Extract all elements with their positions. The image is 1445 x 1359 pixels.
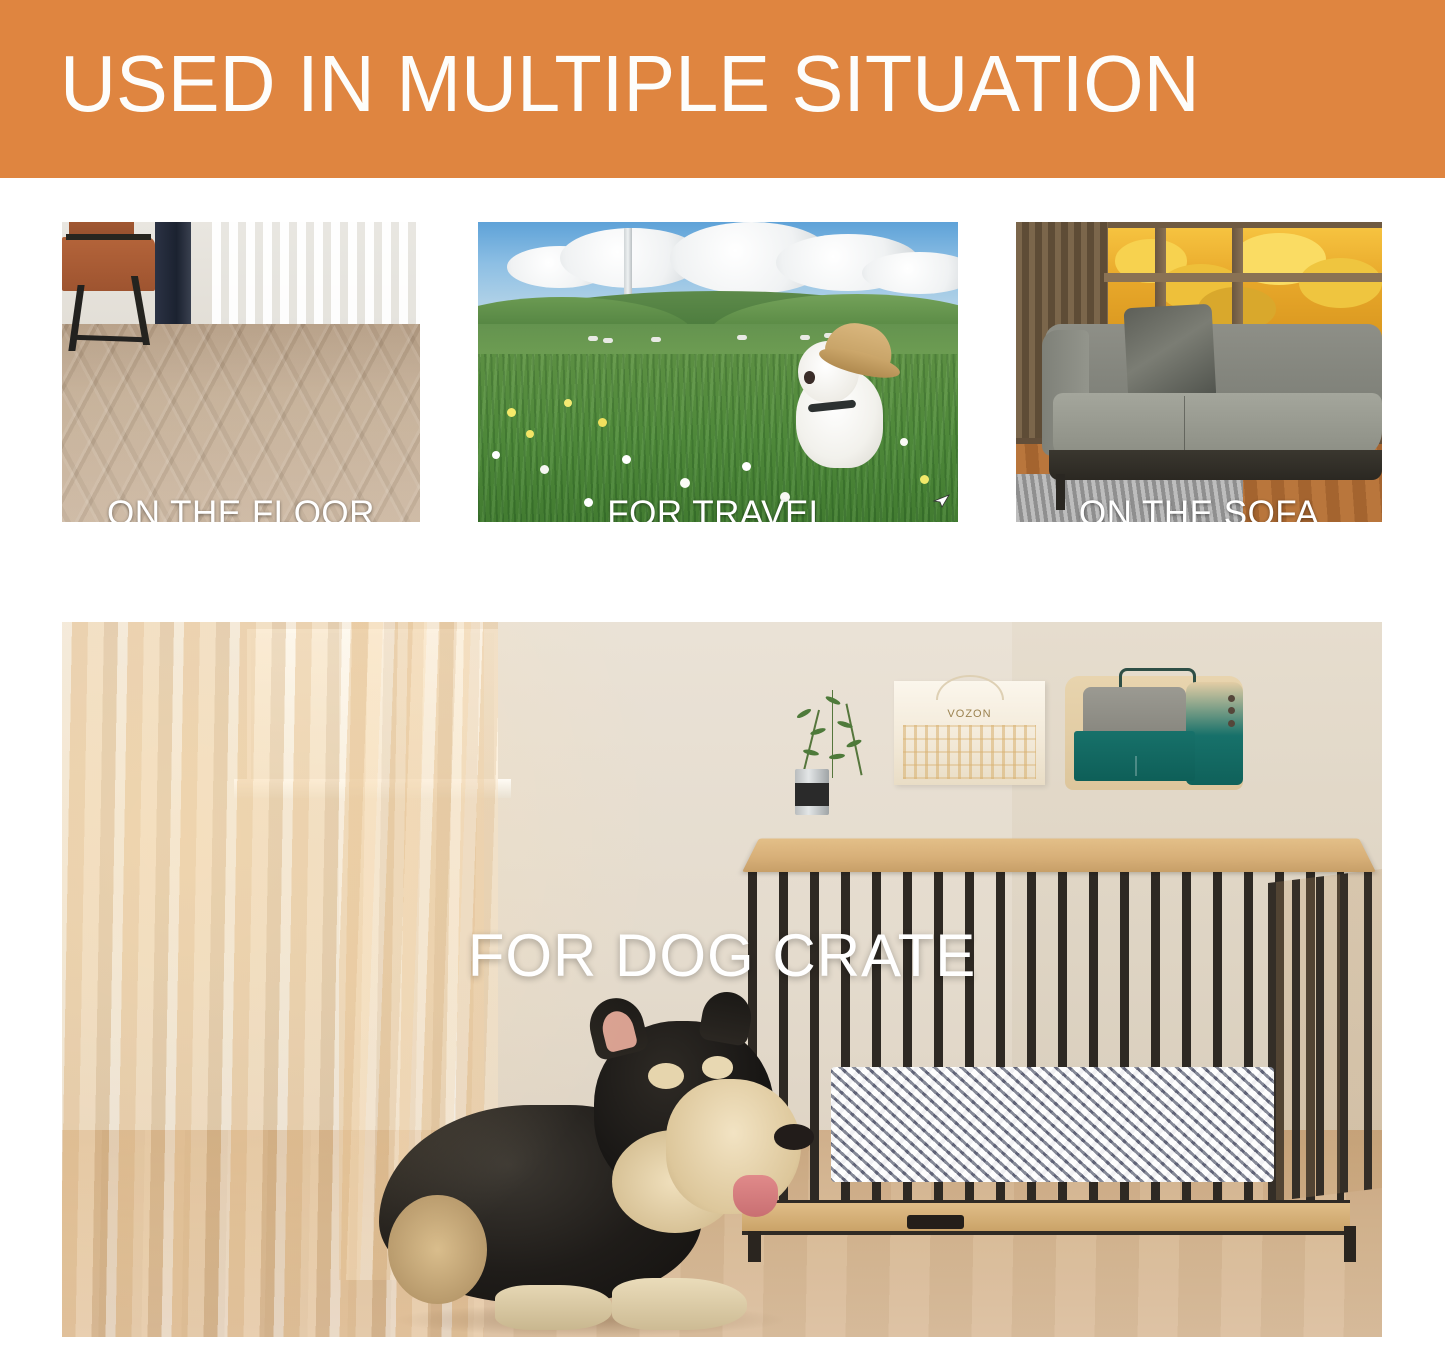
yellow-flower (507, 408, 516, 417)
plant-leaf (803, 748, 820, 756)
white-flower (742, 462, 751, 471)
pocket-seam (1135, 756, 1137, 776)
hero-label-for-dog-crate: FOR DOG CRATE (62, 926, 1382, 986)
hero-image-for-dog-crate[interactable]: VOZON FOR DOG CRATE (62, 622, 1382, 1337)
dog-nose (804, 371, 815, 383)
throw-pillow (1123, 304, 1216, 404)
scene-living-room-floor (62, 222, 420, 522)
cushion-seam (1184, 396, 1185, 456)
sheep (737, 335, 747, 340)
white-flower (540, 465, 549, 474)
crate-foot-right (1344, 1226, 1357, 1261)
crate-bed-mat (831, 1067, 1275, 1182)
header-banner: USED IN MULTIPLE SITUATION (0, 0, 1445, 178)
dog-eyebrow-right (702, 1056, 733, 1079)
chair-seat (62, 237, 155, 291)
carrier-mesh-window (1083, 687, 1186, 737)
yellow-flower (920, 475, 929, 484)
sheer-curtain (212, 222, 420, 339)
pet-carrier-backpack (1065, 676, 1243, 790)
thumbnail-for-travel[interactable]: FOR TRAVEL (478, 222, 958, 522)
ventilation-hole-icon (1228, 720, 1235, 727)
ventilation-hole-icon (1228, 707, 1235, 714)
thumbnail-label-on-the-floor: ON THE FLOOR (62, 496, 420, 522)
dog-nose (774, 1124, 814, 1150)
utility-pole (624, 228, 631, 300)
sheep (603, 338, 613, 343)
herringbone-floor (62, 324, 420, 522)
window-frame-horizontal (1104, 273, 1382, 282)
bag-brand-text: VOZON (894, 708, 1046, 720)
white-flower (900, 438, 908, 446)
sofa-base (1049, 450, 1382, 480)
sheep (651, 337, 661, 342)
thumbnail-label-on-the-sofa: ON THE SOFA (1016, 496, 1382, 522)
white-flower (492, 451, 500, 459)
page-title: USED IN MULTIPLE SITUATION (60, 44, 1200, 124)
yellow-flower (526, 430, 534, 438)
plant-leaf (796, 708, 812, 720)
carrier-top-handle (1119, 668, 1196, 687)
crate-side-panel (1268, 869, 1382, 1202)
situation-thumbnail-row: ON THE FLOOR (0, 222, 1445, 522)
crate-door-handle[interactable] (907, 1215, 964, 1228)
arrow-cursor-icon (931, 490, 951, 510)
vase-label (795, 783, 829, 806)
thumbnail-on-the-sofa[interactable]: ON THE SOFA (1016, 222, 1382, 522)
sheep (588, 336, 598, 341)
ventilation-hole-icon (1228, 695, 1235, 702)
yellow-flower (598, 418, 607, 427)
paper-shopping-bag: VOZON (894, 681, 1046, 785)
potted-plant (775, 679, 894, 786)
scene-grassland (478, 222, 958, 522)
carrier-front-pockets (1074, 731, 1195, 781)
navy-curtain (155, 222, 191, 327)
plant-stem (802, 710, 820, 775)
thumbnail-label-for-travel: FOR TRAVEL (478, 496, 958, 522)
crate-wooden-top (742, 838, 1376, 872)
dog-hind-leg (388, 1195, 487, 1304)
dog-back-paw (495, 1285, 612, 1330)
white-dog-with-hat (790, 330, 891, 468)
scene-sofa-room (1016, 222, 1382, 522)
white-flower (622, 455, 631, 464)
wooden-dog-crate (742, 819, 1376, 1262)
dog-tongue (733, 1175, 778, 1217)
white-flower (680, 478, 690, 488)
thumbnail-on-the-floor[interactable]: ON THE FLOOR (62, 222, 420, 522)
autumn-foliage (1299, 258, 1382, 308)
metal-vase (795, 769, 829, 815)
chair-armrest (66, 234, 152, 240)
malamute-dog (379, 1008, 828, 1330)
crate-base-rail (742, 1200, 1350, 1235)
bag-pattern (903, 725, 1037, 779)
plant-leaf (829, 753, 846, 760)
dog-eyebrow-left (648, 1063, 684, 1089)
dog-front-paw (612, 1278, 747, 1329)
yellow-flower (564, 399, 572, 407)
